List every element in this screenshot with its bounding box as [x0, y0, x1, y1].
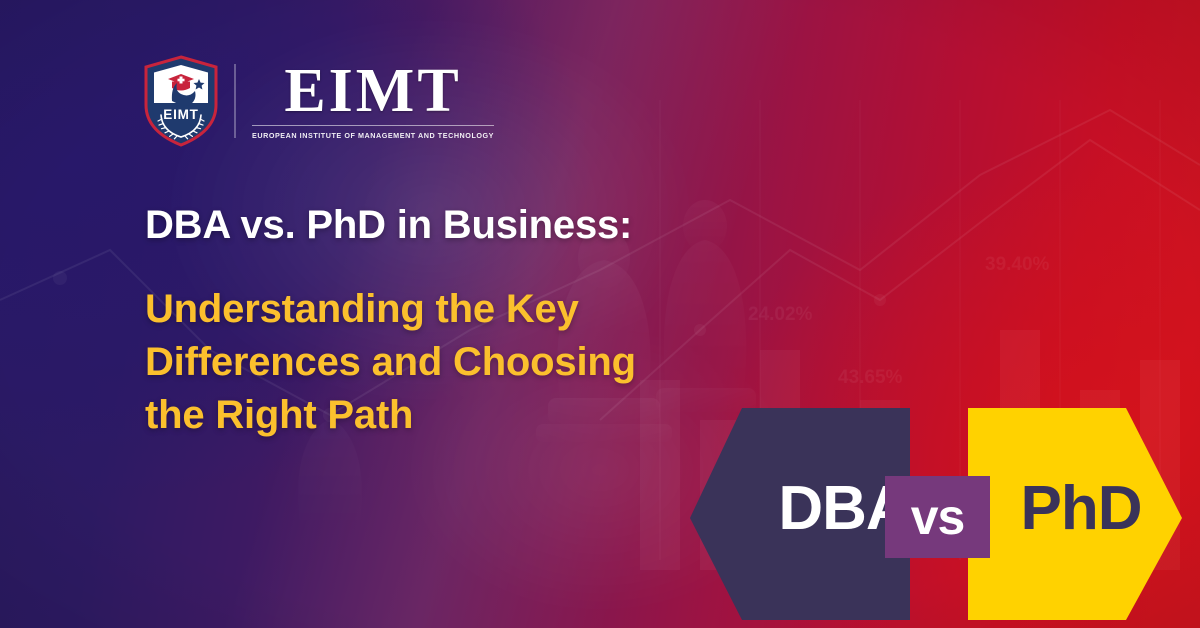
logo-wordblock: EIMT EUROPEAN INSTITUTE OF MANAGEMENT AN… [252, 62, 494, 139]
badge-phd-label: PhD [986, 478, 1176, 540]
eimt-shield-icon: EIMT [142, 55, 220, 147]
svg-text:EIMT: EIMT [163, 107, 198, 122]
dba-vs-phd-badge: DBA vs PhD [686, 400, 1186, 628]
logo-wordmark: EIMT [284, 62, 461, 120]
logo-tagline: EUROPEAN INSTITUTE OF MANAGEMENT AND TEC… [252, 125, 494, 140]
brand-logo-lockup[interactable]: EIMT EIMT EUROPEAN INSTITUTE OF MANAGEME… [142, 55, 494, 147]
logo-divider [234, 64, 236, 138]
headline-subtitle-line-1: Understanding the Key [145, 283, 785, 336]
badge-vs-label: vs [885, 476, 990, 558]
headline-subtitle-line-2: Differences and Choosing [145, 336, 785, 389]
badge-vs-box: vs [885, 476, 990, 558]
banner-root: 24.02% 43.65% 39.40% EIMT [0, 0, 1200, 628]
headline-title: DBA vs. PhD in Business: [145, 203, 785, 247]
